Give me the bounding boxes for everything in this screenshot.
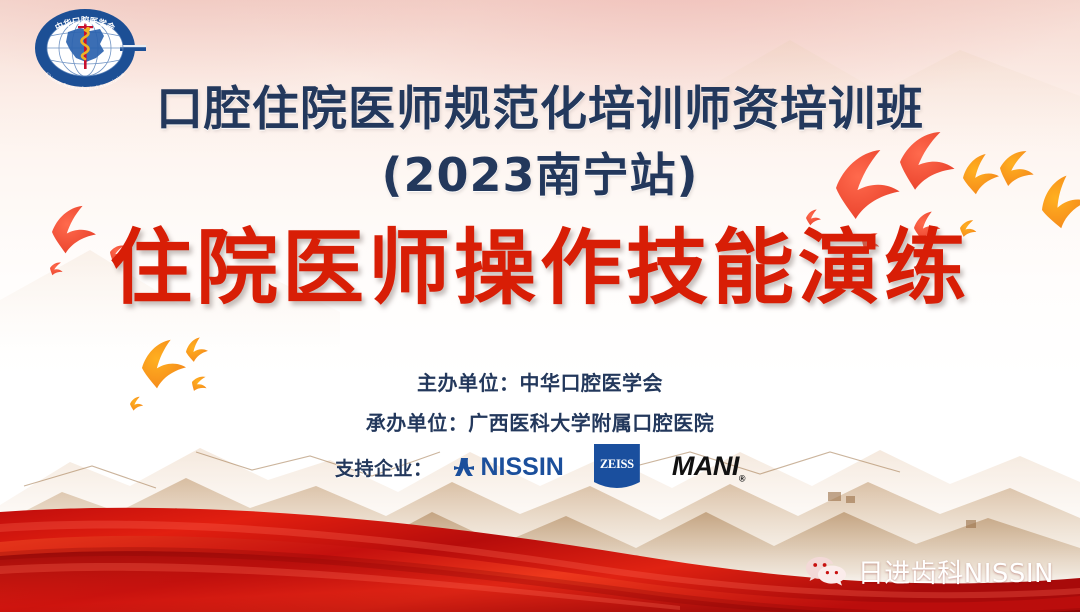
association-emblem: 中华口腔医学会 Chinese Stomatological Associati… — [24, 6, 146, 90]
sponsor-logo-zeiss: ZEISS — [594, 444, 640, 491]
co-organizer-line: 承办单位：广西医科大学附属口腔医院 — [0, 407, 1080, 436]
mani-wordmark: MANI — [672, 451, 739, 481]
page-title: 口腔住院医师规范化培训师资培训班 — [0, 82, 1080, 137]
watermark-label: 日进齿科NISSIN — [858, 553, 1054, 590]
wechat-watermark: 日进齿科NISSIN — [805, 553, 1054, 590]
sponsor-logo-nissin: NISSIN — [451, 453, 564, 482]
sponsor-row: 支持企业： NISSIN ZEISS MANI® — [0, 444, 1080, 491]
zeiss-wordmark: ZEISS — [594, 457, 640, 472]
nissin-mark-icon — [451, 455, 477, 481]
sponsor-logo-mani: MANI® — [672, 451, 745, 483]
organizer-line: 主办单位：中华口腔医学会 — [0, 367, 1080, 396]
sponsor-label: 支持企业： — [335, 454, 433, 481]
event-headline: 住院医师操作技能演练 — [0, 222, 1080, 316]
mani-registered-mark: ® — [739, 474, 745, 484]
nissin-wordmark: NISSIN — [481, 453, 564, 482]
poster-canvas: 中华口腔医学会 Chinese Stomatological Associati… — [0, 0, 1080, 612]
page-subtitle: (2023南宁站) — [0, 148, 1080, 203]
wechat-icon — [805, 555, 847, 589]
